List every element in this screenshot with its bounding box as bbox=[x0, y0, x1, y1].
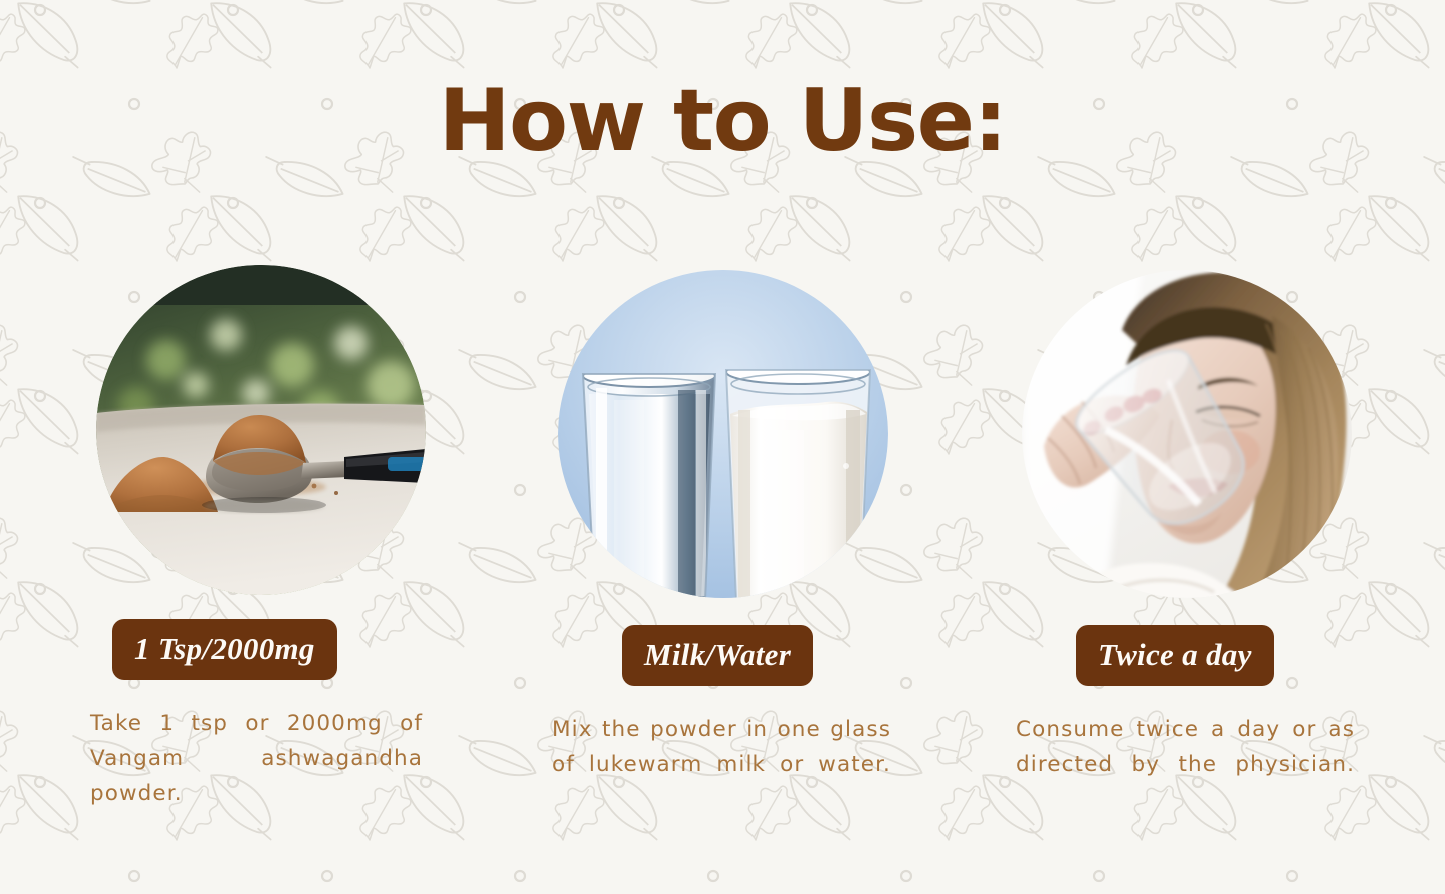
step-3-description: Consume twice a day or as directed by th… bbox=[1014, 712, 1355, 817]
how-to-use-section: How to Use: bbox=[0, 0, 1445, 894]
step-2-description: Mix the powder in one glass of lukewarm … bbox=[550, 712, 891, 817]
step-card-1: 1 Tsp/2000mg Take 1 tsp or 2000mg of Van… bbox=[88, 265, 433, 846]
step-1-image bbox=[96, 265, 426, 595]
step-1-badge-row: 1 Tsp/2000mg bbox=[88, 619, 433, 680]
step-2-badge: Milk/Water bbox=[622, 625, 813, 686]
page-title: How to Use: bbox=[0, 78, 1445, 164]
step-1-badge: 1 Tsp/2000mg bbox=[112, 619, 337, 680]
step-1-description: Take 1 tsp or 2000mg of Vangam ashwagand… bbox=[88, 706, 423, 846]
step-card-3: Twice a day Consume twice a day or as di… bbox=[1014, 265, 1359, 817]
step-3-badge-row: Twice a day bbox=[1014, 625, 1359, 686]
step-3-badge: Twice a day bbox=[1076, 625, 1274, 686]
step-card-2: Milk/Water Mix the powder in one glass o… bbox=[550, 265, 895, 817]
step-3-image bbox=[1022, 270, 1352, 600]
step-2-image bbox=[558, 270, 888, 600]
step-2-badge-row: Milk/Water bbox=[550, 625, 895, 686]
